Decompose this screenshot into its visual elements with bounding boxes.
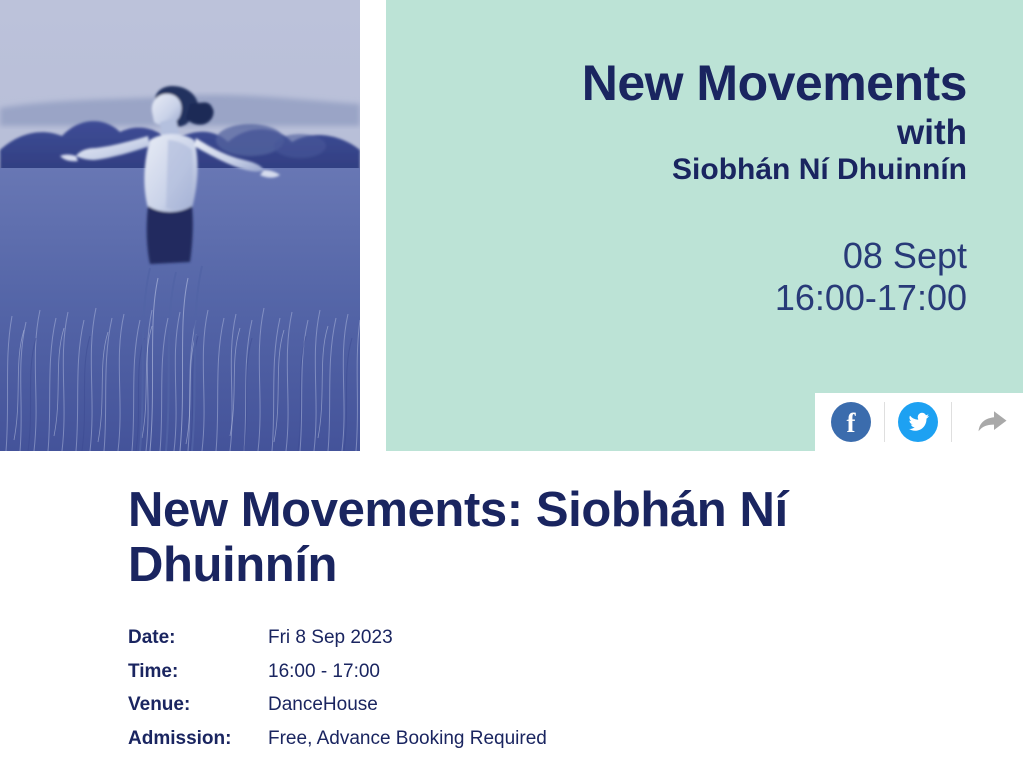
facebook-icon: f	[831, 402, 871, 442]
twitter-icon	[898, 402, 938, 442]
event-details-section: New Movements: Siobhán Ní Dhuinnín Date:…	[0, 451, 1023, 762]
share-facebook-button[interactable]: f	[829, 400, 873, 444]
table-row: Venue: DanceHouse	[128, 694, 547, 728]
detail-label-date: Date:	[128, 627, 268, 661]
share-divider-1	[884, 402, 885, 442]
twitter-bird-glyph	[907, 411, 930, 434]
share-twitter-button[interactable]	[896, 400, 940, 444]
hero-banner: New Movements with Siobhán Ní Dhuinnín 0…	[0, 0, 1023, 451]
poster-with-label: with	[406, 114, 967, 153]
event-details-table: Date: Fri 8 Sep 2023 Time: 16:00 - 17:00…	[128, 627, 547, 762]
poster-date: 08 Sept	[406, 235, 967, 277]
social-share-bar: f	[815, 393, 1023, 451]
detail-label-time: Time:	[128, 661, 268, 695]
share-more-button[interactable]	[969, 400, 1013, 444]
table-row: Admission: Free, Advance Booking Require…	[128, 728, 547, 762]
detail-value-venue: DanceHouse	[268, 694, 547, 728]
event-details-body: Date: Fri 8 Sep 2023 Time: 16:00 - 17:00…	[128, 627, 547, 762]
detail-value-admission: Free, Advance Booking Required	[268, 728, 547, 762]
detail-label-admission: Admission:	[128, 728, 268, 762]
poster-artist-name: Siobhán Ní Dhuinnín	[406, 153, 967, 188]
detail-value-date: Fri 8 Sep 2023	[268, 627, 547, 661]
detail-value-time: 16:00 - 17:00	[268, 661, 547, 695]
facebook-glyph: f	[847, 410, 856, 437]
event-poster: New Movements with Siobhán Ní Dhuinnín 0…	[386, 0, 1023, 451]
detail-label-venue: Venue:	[128, 694, 268, 728]
share-arrow-icon	[974, 408, 1008, 436]
share-divider-2	[951, 402, 952, 442]
event-photo-artwork	[0, 0, 360, 451]
table-row: Time: 16:00 - 17:00	[128, 661, 547, 695]
poster-title: New Movements	[406, 58, 967, 108]
event-photo	[0, 0, 360, 451]
table-row: Date: Fri 8 Sep 2023	[128, 627, 547, 661]
poster-text-block: New Movements with Siobhán Ní Dhuinnín 0…	[406, 0, 967, 320]
poster-time: 16:00-17:00	[406, 277, 967, 319]
page-title: New Movements: Siobhán Ní Dhuinnín	[128, 483, 868, 593]
